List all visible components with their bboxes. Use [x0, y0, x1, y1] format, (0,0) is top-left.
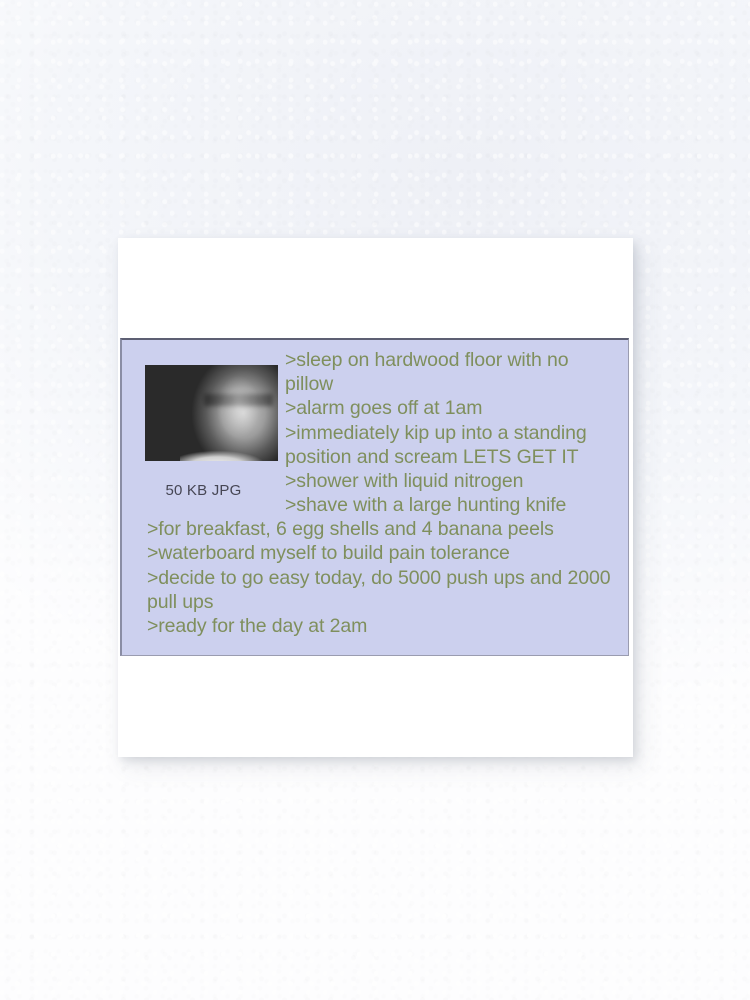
poster-product-image: 50 KB JPG >sleep on hardwood floor with …	[118, 238, 633, 757]
thumbnail-block: 50 KB JPG	[122, 340, 285, 499]
thumbnail-filesize-caption: 50 KB JPG	[122, 482, 285, 499]
page-backdrop: 50 KB JPG >sleep on hardwood floor with …	[0, 0, 750, 1000]
greentext-meme-panel: 50 KB JPG >sleep on hardwood floor with …	[120, 338, 629, 656]
portrait-photo-thumbnail	[145, 365, 278, 461]
